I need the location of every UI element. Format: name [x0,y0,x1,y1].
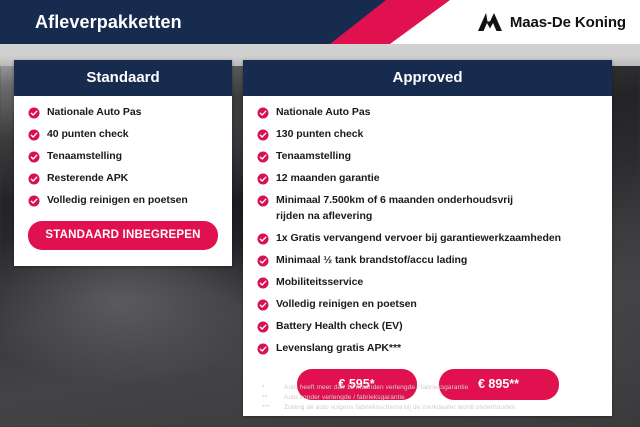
feature-label: Nationale Auto Pas [47,105,141,119]
standard-card-title: Standaard [14,60,232,96]
list-item: Tenaamstelling [243,149,612,163]
check-circle-icon [257,321,269,333]
list-item: Nationale Auto Pas [14,105,232,119]
approved-feature-list: Nationale Auto Pas 130 punten check Tena… [243,105,612,355]
check-circle-icon [28,129,40,141]
footnote-marker: *** [262,403,278,413]
standard-button-row: STANDAARD INBEGREPEN [14,215,232,266]
check-circle-icon [257,129,269,141]
feature-label-continuation: rijden na aflevering [243,209,612,223]
feature-label: 12 maanden garantie [276,171,380,185]
feature-label: Resterende APK [47,171,128,185]
page-header: Afleverpakketten Maas-De Koning [0,0,640,44]
list-item: Volledig reinigen en poetsen [14,193,232,207]
footnote-text: Zolang de auto volgens fabrieksschema bi… [284,403,515,413]
feature-label: Tenaamstelling [47,149,122,163]
feature-label: 130 punten check [276,127,363,141]
list-item: 130 punten check [243,127,612,141]
approved-package-card: Approved Nationale Auto Pas 130 punten c… [243,60,612,416]
feature-label: Minimaal 7.500km of 6 maanden onderhouds… [276,193,513,207]
list-item: Minimaal ½ tank brandstof/accu lading [243,253,612,267]
feature-label: Mobiliteitsservice [276,275,363,289]
footnotes-block: * Auto heeft meer dan 12 maanden verleng… [262,383,622,413]
list-item: Levenslang gratis APK*** [243,341,612,355]
app-screen: Afleverpakketten Maas-De Koning Standaar… [0,0,640,427]
check-circle-icon [257,173,269,185]
feature-label: Tenaamstelling [276,149,351,163]
list-item: 1x Gratis vervangend vervoer bij garanti… [243,231,612,245]
check-circle-icon [28,107,40,119]
list-item: Volledig reinigen en poetsen [243,297,612,311]
footnote-text: Auto zonder verlengde / fabrieksgarantie [284,393,405,403]
check-circle-icon [257,107,269,119]
feature-label: Levenslang gratis APK*** [276,341,401,355]
list-item: 40 punten check [14,127,232,141]
check-circle-icon [257,255,269,267]
list-item: Resterende APK [14,171,232,185]
maas-de-koning-m-icon [477,12,503,32]
check-circle-icon [257,277,269,289]
check-circle-icon [257,195,269,207]
feature-label: 1x Gratis vervangend vervoer bij garanti… [276,231,561,245]
footnote-single-asterisk: * Auto heeft meer dan 12 maanden verleng… [262,383,622,393]
footnote-triple-asterisk: *** Zolang de auto volgens fabrieksschem… [262,403,622,413]
footnote-marker: * [262,383,278,393]
brand-name: Maas-De Koning [510,14,626,31]
check-circle-icon [28,151,40,163]
check-circle-icon [28,195,40,207]
standard-included-button[interactable]: STANDAARD INBEGREPEN [28,221,218,250]
list-item: Battery Health check (EV) [243,319,612,333]
standard-package-card: Standaard Nationale Auto Pas 40 punten c… [14,60,232,266]
feature-label: 40 punten check [47,127,129,141]
check-circle-icon [257,299,269,311]
feature-label: Battery Health check (EV) [276,319,403,333]
footnote-marker: ** [262,393,278,403]
list-item: 12 maanden garantie [243,171,612,185]
page-title: Afleverpakketten [35,0,182,44]
feature-label: Volledig reinigen en poetsen [276,297,417,311]
brand-logo: Maas-De Koning [477,0,626,44]
list-item: Minimaal 7.500km of 6 maanden onderhouds… [243,193,612,207]
feature-label: Volledig reinigen en poetsen [47,193,188,207]
footnote-text: Auto heeft meer dan 12 maanden verlengde… [284,383,468,393]
footnote-double-asterisk: ** Auto zonder verlengde / fabrieksgaran… [262,393,622,403]
check-circle-icon [257,151,269,163]
list-item: Tenaamstelling [14,149,232,163]
feature-label: Nationale Auto Pas [276,105,370,119]
list-item: Nationale Auto Pas [243,105,612,119]
approved-card-body: Nationale Auto Pas 130 punten check Tena… [243,96,612,416]
list-item: Mobiliteitsservice [243,275,612,289]
check-circle-icon [28,173,40,185]
standard-feature-list: Nationale Auto Pas 40 punten check Tenaa… [14,105,232,207]
check-circle-icon [257,233,269,245]
feature-label: Minimaal ½ tank brandstof/accu lading [276,253,467,267]
approved-card-title: Approved [243,60,612,96]
standard-card-body: Nationale Auto Pas 40 punten check Tenaa… [14,96,232,266]
check-circle-icon [257,343,269,355]
